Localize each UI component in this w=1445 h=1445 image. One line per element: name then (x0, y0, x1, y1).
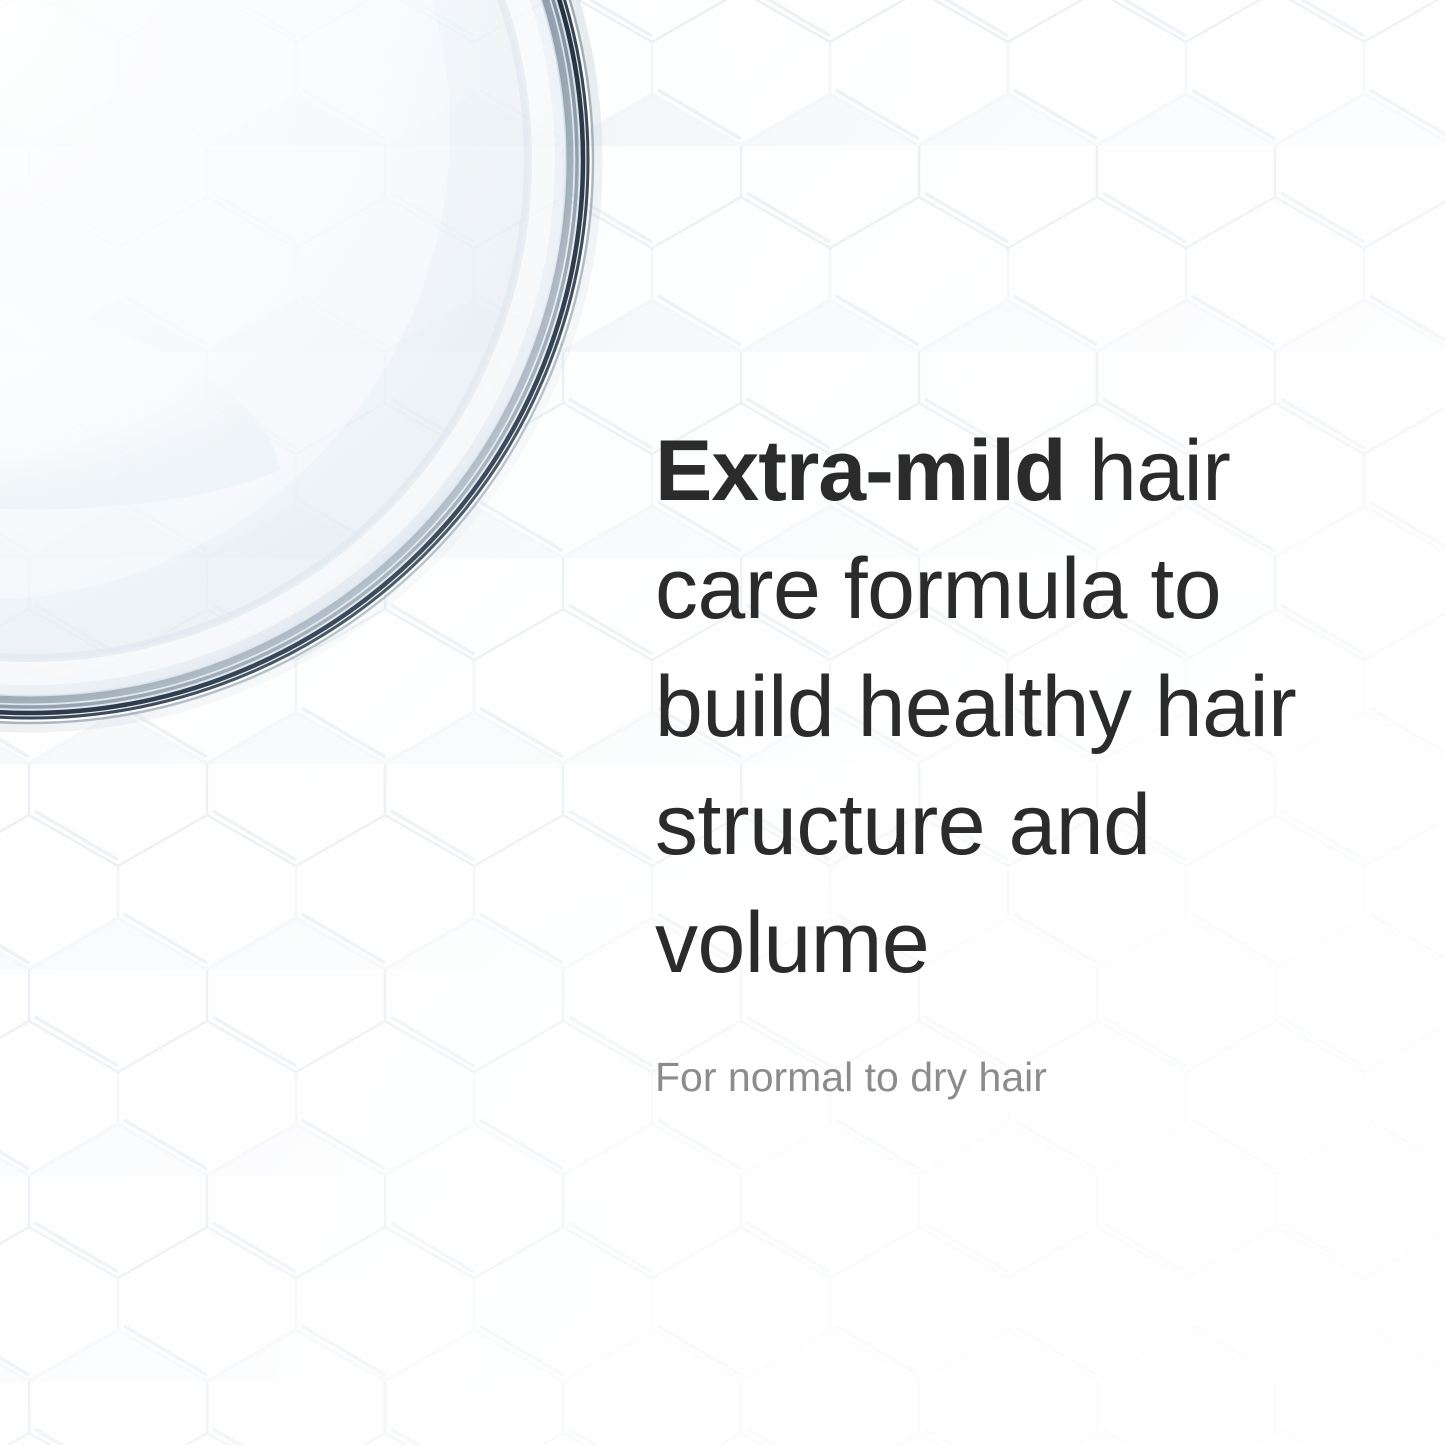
subtitle: For normal to dry hair (655, 1002, 1355, 1102)
petri-dish-image (0, 0, 620, 750)
page-title: Extra-mild hair care formula to build he… (655, 412, 1355, 1002)
product-banner: Extra-mild hair care formula to build he… (0, 0, 1445, 1445)
copy-block: Extra-mild hair care formula to build he… (655, 412, 1355, 1102)
headline-emphasis: Extra-mild (655, 423, 1066, 519)
